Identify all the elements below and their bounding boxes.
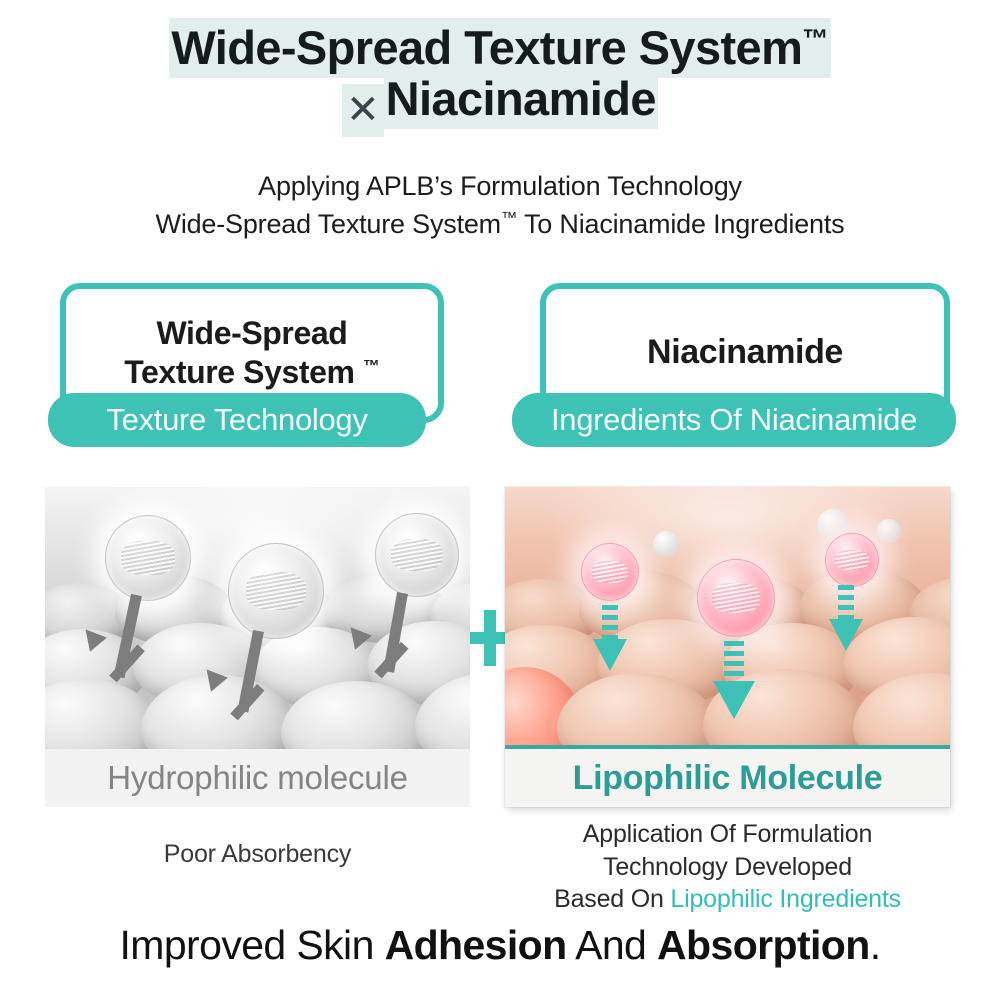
molecule-core [592, 561, 628, 583]
arrow-head-icon [713, 681, 755, 719]
footer-bold-absorption: Absorption [657, 922, 870, 968]
note-poor-absorbency: Poor Absorbency [45, 840, 470, 869]
arrow-head-icon [593, 639, 627, 671]
note-right-line-3: Based On Lipophilic Ingredients [505, 883, 950, 916]
note-right-line-2: Technology Developed [505, 851, 950, 884]
molecule-pink [581, 543, 639, 601]
caption-hydrophilic-label: Hydrophilic molecule [107, 759, 407, 797]
lipophilic-illustration [505, 487, 950, 745]
caption-lipophilic-label: Lipophilic Molecule [573, 759, 883, 798]
arrow-tail [602, 605, 618, 643]
pill-texture-technology-label: Texture Technology [106, 402, 367, 438]
molecule-core [835, 550, 868, 571]
caption-hydrophilic: Hydrophilic molecule [45, 749, 470, 807]
molecule-core [121, 541, 175, 575]
bubble [653, 531, 679, 557]
note-application-technology: Application Of Formulation Technology De… [505, 818, 950, 916]
footer-bold-adhesion: Adhesion [385, 922, 567, 968]
footer-part-2: And [567, 922, 657, 968]
caption-lipophilic: Lipophilic Molecule [505, 745, 950, 807]
subtitle: Applying APLB’s Formulation Technology W… [0, 168, 1000, 244]
formula-boxes: Wide-Spread Texture System ™ Texture Tec… [0, 283, 1000, 468]
box-left-title-line1: Wide-Spread [157, 315, 348, 351]
subtitle-line-1: Applying APLB’s Formulation Technology [0, 168, 1000, 206]
arrow-absorbed [713, 641, 755, 721]
footer-part-1: Improved Skin [120, 922, 385, 968]
pill-ingredients-label: Ingredients Of Niacinamide [551, 402, 917, 438]
pill-ingredients-of-niacinamide: Ingredients Of Niacinamide [512, 393, 956, 447]
box-niacinamide-title: Niacinamide [647, 332, 843, 373]
pill-texture-technology: Texture Technology [48, 393, 426, 447]
arrow-absorbed [829, 585, 863, 653]
subtitle-line-2-a: Wide-Spread Texture System [156, 209, 501, 239]
molecule-pink [697, 559, 775, 637]
arrow-head-icon [829, 619, 863, 651]
molecule-gray [105, 515, 191, 601]
arrow-absorbed [593, 605, 627, 673]
molecule-gray [228, 543, 324, 639]
molecule-pink [825, 533, 879, 587]
title-secondary-text: Niacinamide [384, 69, 658, 129]
molecule-core [712, 583, 761, 613]
note-right-line-3-a: Based On [554, 885, 670, 913]
molecule-gray [375, 513, 459, 597]
infographic-page: Wide-Spread Texture System™ ✕Niacinamide… [0, 0, 1000, 1000]
molecule-core [391, 539, 443, 572]
title-line-2: ✕Niacinamide [0, 75, 1000, 137]
title-line-1: Wide-Spread Texture System™ [0, 24, 1000, 71]
trademark-icon: ™ [501, 209, 517, 227]
note-right-line-3-highlight: Lipophilic Ingredients [670, 885, 900, 913]
trademark-icon: ™ [363, 356, 380, 375]
subtitle-line-2-b: To Niacinamide Ingredients [517, 209, 844, 239]
cross-icon: ✕ [342, 84, 384, 137]
arrow-tail [724, 641, 744, 685]
footer-claim: Improved Skin Adhesion And Absorption. [0, 922, 1000, 969]
subtitle-line-2: Wide-Spread Texture System™ To Niacinami… [0, 206, 1000, 244]
title-main-text: Wide-Spread Texture System [171, 21, 802, 74]
molecule-core [246, 572, 306, 610]
note-right-line-1: Application Of Formulation [505, 818, 950, 851]
footer-part-3: . [870, 922, 881, 968]
page-title: Wide-Spread Texture System™ ✕Niacinamide [0, 24, 1000, 137]
trademark-icon: ™ [802, 23, 828, 53]
bubble [877, 519, 901, 543]
box-texture-system-title: Wide-Spread Texture System ™ [124, 314, 379, 392]
box-left-title-line2: Texture System [124, 354, 363, 390]
panel-lipophilic: Lipophilic Molecule [505, 487, 950, 807]
hydrophilic-illustration [45, 487, 470, 749]
panel-hydrophilic: Hydrophilic molecule [45, 487, 470, 807]
arrow-tail [838, 585, 854, 623]
note-poor-absorbency-text: Poor Absorbency [164, 840, 351, 868]
